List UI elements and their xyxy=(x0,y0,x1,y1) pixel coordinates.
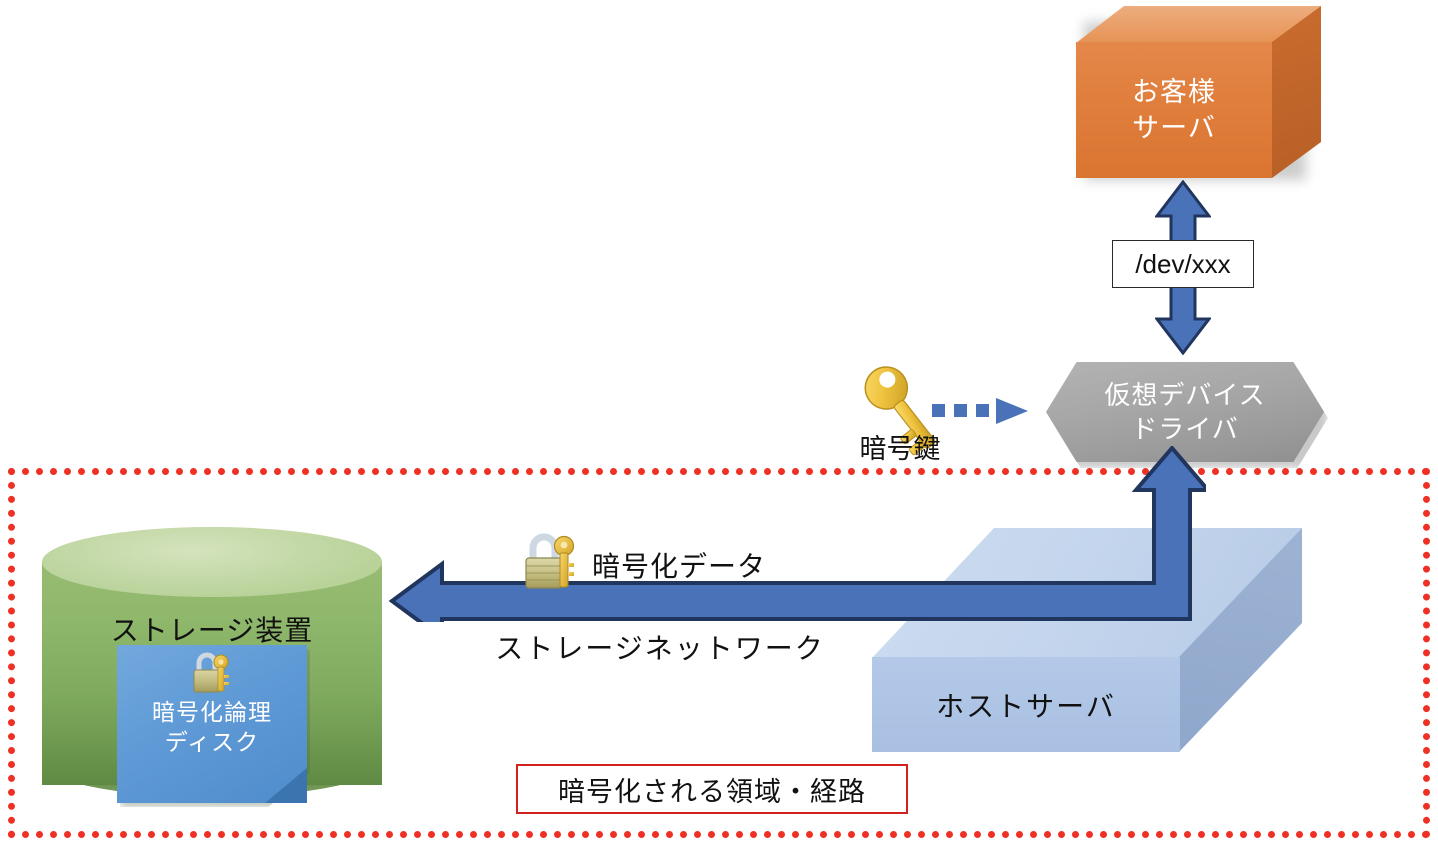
customer-server-box[interactable]: お客様 サーバ xyxy=(1070,6,1320,181)
host-server-label: ホストサーバ xyxy=(872,657,1180,752)
storage-device-text: ストレージ装置 xyxy=(111,609,313,649)
dev-path-text: /dev/xxx xyxy=(1135,249,1230,280)
vdd-label-line1: 仮想デバイス xyxy=(1104,378,1265,412)
padlock-key-icon-svg xyxy=(189,651,235,695)
key-dotted-arrow-svg xyxy=(932,396,1042,426)
storage-network-text: ストレージネットワーク xyxy=(495,627,824,667)
storage-device-label: ストレージ装置 xyxy=(42,609,382,649)
dev-path-label: /dev/xxx xyxy=(1112,240,1254,288)
diagram-canvas: お客様 サーバ /dev/xxx 仮想デバイス ドライバ xyxy=(0,0,1438,848)
vdd-label-line2: ドライバ xyxy=(1131,412,1238,446)
encrypted-logical-disk-note[interactable]: 暗号化論理 ディスク xyxy=(117,645,307,803)
host-server-text: ホストサーバ xyxy=(936,685,1116,725)
encrypted-zone-caption: 暗号化される領域・経路 xyxy=(516,764,908,814)
encrypted-zone-caption-text: 暗号化される領域・経路 xyxy=(558,770,866,809)
enc-disk-line1: 暗号化論理 xyxy=(152,697,272,727)
encrypted-data-icon-svg xyxy=(520,531,582,593)
customer-server-label-line1: お客様 xyxy=(1132,74,1216,110)
storage-network-bent-arrow-svg xyxy=(386,446,1206,622)
encrypted-data-label: 暗号化データ xyxy=(592,545,852,585)
padlock-key-icon xyxy=(117,651,307,695)
storage-network-label: ストレージネットワーク xyxy=(480,627,840,667)
customer-server-label: お客様 サーバ xyxy=(1076,42,1272,178)
encrypted-data-text: 暗号化データ xyxy=(592,545,766,585)
enc-disk-line2: ディスク xyxy=(165,727,259,757)
customer-server-label-line2: サーバ xyxy=(1132,110,1216,146)
encrypted-logical-disk-label: 暗号化論理 ディスク xyxy=(117,697,307,787)
key-to-driver-dotted-arrow xyxy=(932,396,1042,426)
cylinder-top-ellipse xyxy=(42,527,382,597)
storage-network-bent-arrow xyxy=(386,446,1206,622)
encrypted-data-padlock-key-icon xyxy=(520,531,582,593)
